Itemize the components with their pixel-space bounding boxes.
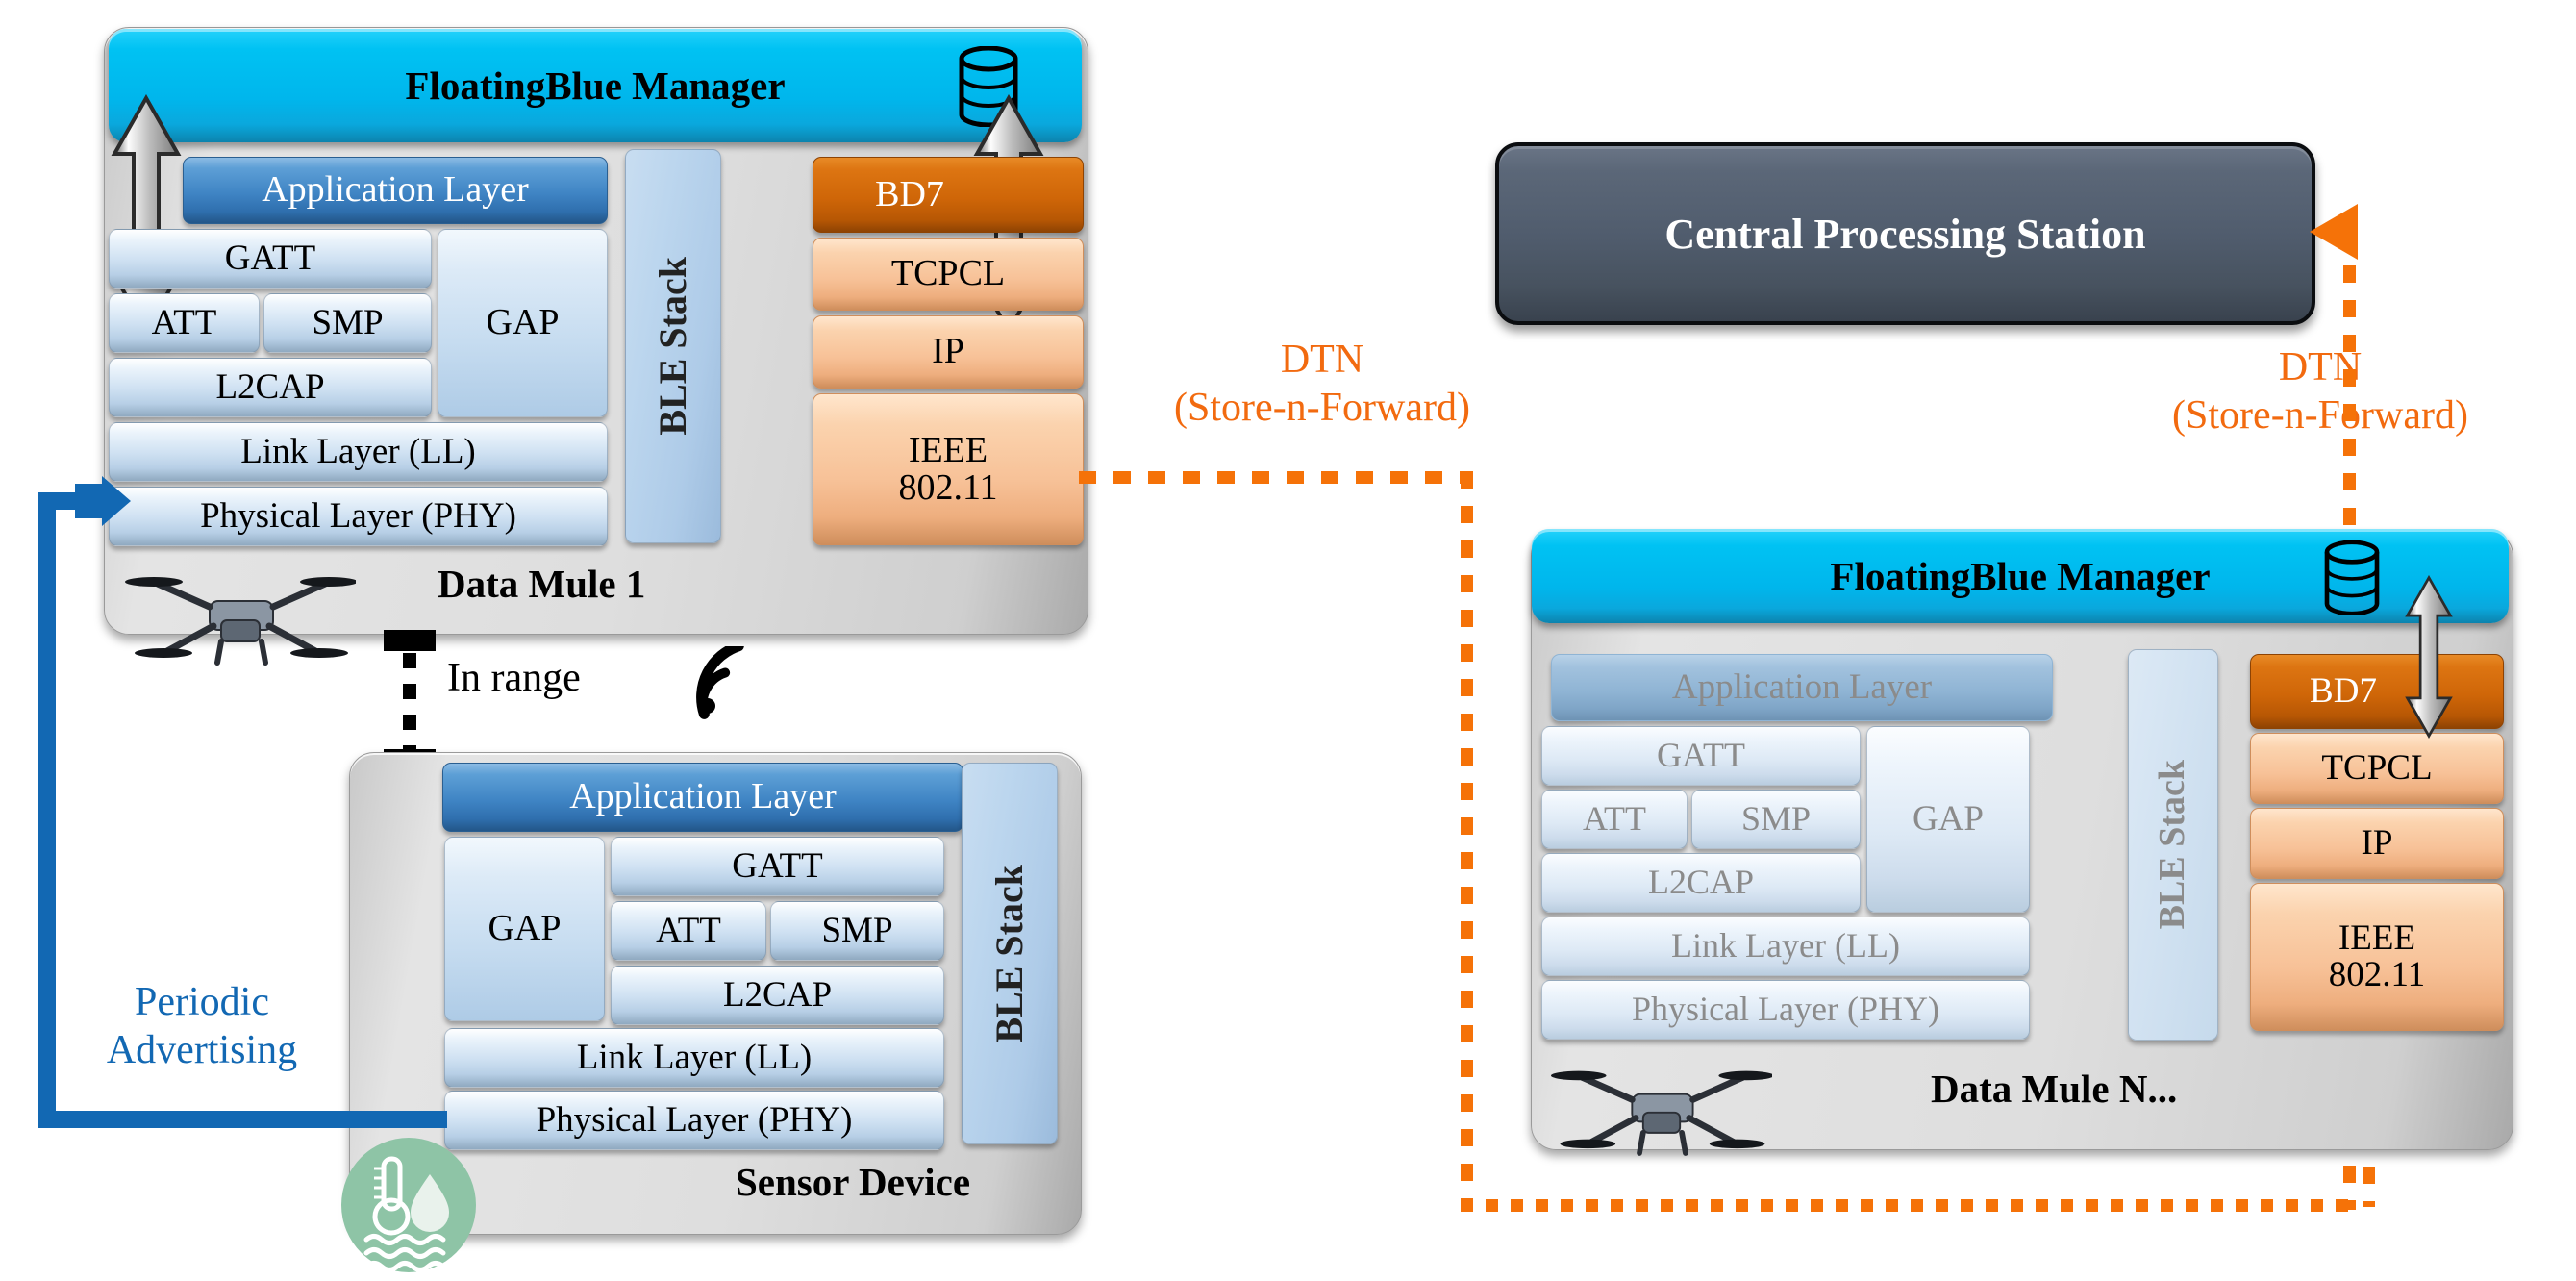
link-layer-label-muleN: Link Layer (LL): [1671, 928, 1900, 964]
smp-label-sensor: SMP: [821, 913, 892, 949]
tcpcl-label: TCPCL: [891, 255, 1005, 292]
gap-label-sensor: GAP: [488, 910, 561, 947]
application-layer-label: Application Layer: [262, 171, 529, 209]
ip-muleN: IP: [2250, 808, 2504, 879]
dtn-label-left: DTN (Store-n-Forward): [1163, 337, 1481, 432]
data-mule-1-label: Data Mule 1: [438, 561, 645, 607]
drone-icon-muleN: [1551, 1056, 1772, 1160]
data-mule-n-label: Data Mule N...: [1931, 1066, 2177, 1112]
application-layer-mule1: Application Layer: [183, 157, 608, 224]
up-down-arrow-icon-muleN: [2394, 575, 2463, 739]
ieee80211-label: IEEE 802.11: [898, 432, 997, 507]
drone-icon-mule1: [125, 563, 356, 668]
physical-layer-label: Physical Layer (PHY): [200, 498, 516, 535]
ip-label-muleN: IP: [2362, 825, 2393, 862]
l2cap-mule1: L2CAP: [109, 358, 432, 417]
floatingblue-manager-bar-mule1: FloatingBlue Manager: [109, 29, 1082, 142]
ip-mule1: IP: [813, 315, 1084, 389]
physical-layer-label-sensor: Physical Layer (PHY): [537, 1102, 853, 1139]
l2cap-sensor: L2CAP: [611, 966, 944, 1025]
floatingblue-manager-label-muleN: FloatingBlue Manager: [1830, 553, 2210, 599]
smp-sensor: SMP: [770, 901, 944, 961]
periodic-advertising-line-bottom: [38, 1111, 447, 1128]
link-layer-sensor: Link Layer (LL): [444, 1028, 944, 1088]
physical-layer-muleN: Physical Layer (PHY): [1541, 980, 2030, 1040]
bd7-label-muleN: BD7: [2310, 673, 2377, 710]
gap-muleN: GAP: [1866, 726, 2030, 913]
att-muleN: ATT: [1541, 790, 1688, 849]
ieee80211-muleN: IEEE 802.11: [2250, 883, 2504, 1031]
gap-mule1: GAP: [438, 229, 608, 417]
att-label-muleN: ATT: [1583, 801, 1646, 837]
ble-stack-label: BLE Stack: [653, 257, 692, 436]
link-layer-label: Link Layer (LL): [240, 434, 476, 470]
l2cap-muleN: L2CAP: [1541, 853, 1861, 913]
gatt-muleN: GATT: [1541, 726, 1861, 786]
in-range-cap-top: [384, 630, 436, 651]
att-label-sensor: ATT: [656, 913, 721, 949]
ble-stack-label-muleN: BLE Stack: [2154, 760, 2191, 929]
periodic-advertising-line-vertical: [38, 492, 56, 1128]
ieee80211-mule1: IEEE 802.11: [813, 393, 1084, 545]
l2cap-label-sensor: L2CAP: [723, 977, 832, 1014]
gap-label: GAP: [486, 304, 559, 341]
gatt-label: GATT: [225, 240, 316, 277]
periodic-advertising-arrowhead: [75, 476, 131, 526]
link-layer-mule1: Link Layer (LL): [109, 422, 608, 482]
ieee80211-label-muleN: IEEE 802.11: [2329, 920, 2425, 993]
smp-mule1: SMP: [263, 293, 432, 353]
physical-layer-label-muleN: Physical Layer (PHY): [1632, 992, 1939, 1027]
gap-label-muleN: GAP: [1913, 801, 1984, 838]
bd7-muleN: BD7: [2250, 654, 2504, 729]
bd7-mule1: BD7: [813, 157, 1084, 233]
ble-stack-column-mule1: BLE Stack: [625, 149, 721, 543]
gatt-mule1: GATT: [109, 229, 432, 289]
dtn-label-right: DTN (Store-n-Forward): [2162, 344, 2479, 440]
physical-layer-mule1: Physical Layer (PHY): [109, 487, 608, 546]
floatingblue-manager-label: FloatingBlue Manager: [405, 63, 785, 109]
gap-sensor: GAP: [444, 837, 605, 1021]
tcpcl-muleN: TCPCL: [2250, 733, 2504, 804]
link-layer-label-sensor: Link Layer (LL): [577, 1040, 813, 1076]
periodic-advertising-label: Periodic Advertising: [82, 979, 322, 1074]
smp-muleN: SMP: [1691, 790, 1861, 849]
att-sensor: ATT: [611, 901, 766, 961]
physical-layer-sensor: Physical Layer (PHY): [444, 1091, 944, 1150]
ble-stack-column-muleN: BLE Stack: [2128, 649, 2218, 1041]
dtn-route-b-to-station: [2337, 225, 2358, 238]
in-range-label: In range: [447, 655, 581, 703]
att-label: ATT: [152, 305, 217, 341]
link-layer-muleN: Link Layer (LL): [1541, 917, 2030, 976]
att-mule1: ATT: [109, 293, 260, 353]
application-layer-label-muleN: Application Layer: [1672, 669, 1932, 706]
l2cap-label-muleN: L2CAP: [1648, 865, 1754, 900]
tcpcl-mule1: TCPCL: [813, 238, 1084, 311]
gatt-label-muleN: GATT: [1657, 738, 1745, 773]
dtn-route-a-bottom: [1461, 1199, 2355, 1212]
database-icon-muleN: [2320, 540, 2384, 615]
dtn-route-a-vertical: [1461, 471, 1473, 1212]
application-layer-sensor: Application Layer: [442, 763, 963, 832]
application-layer-label-sensor: Application Layer: [569, 778, 837, 816]
application-layer-muleN: Application Layer: [1551, 654, 2053, 721]
central-processing-station: Central Processing Station: [1495, 142, 2315, 325]
in-range-dotted-line: [403, 653, 416, 749]
smp-label: SMP: [312, 305, 383, 341]
bd7-label: BD7: [875, 176, 944, 213]
gatt-label-sensor: GATT: [732, 848, 823, 885]
smp-label-muleN: SMP: [1741, 801, 1811, 837]
floatingblue-manager-bar-muleN: FloatingBlue Manager: [1532, 529, 2509, 623]
ble-stack-column-sensor: BLE Stack: [962, 763, 1058, 1144]
sensor-device-label: Sensor Device: [736, 1159, 970, 1205]
gatt-sensor: GATT: [611, 837, 944, 896]
dtn-route-a-horizontal: [1079, 471, 1473, 484]
wifi-signal-icon: [688, 646, 770, 723]
ble-stack-label-sensor: BLE Stack: [989, 865, 1029, 1043]
ip-label: IP: [932, 333, 964, 370]
central-processing-station-label: Central Processing Station: [1664, 210, 2145, 259]
water-temperature-sensor-icon: [341, 1138, 476, 1272]
tcpcl-label-muleN: TCPCL: [2321, 750, 2432, 787]
l2cap-label: L2CAP: [215, 369, 324, 406]
